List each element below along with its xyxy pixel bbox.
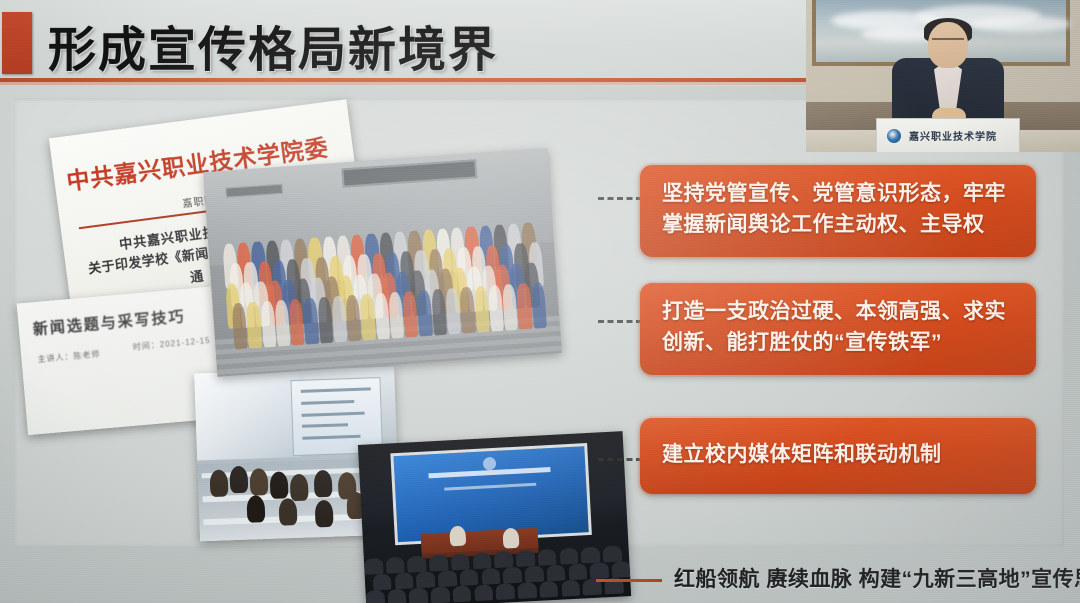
- speaker-glasses-icon: [932, 38, 964, 47]
- school-emblem-icon: [887, 129, 901, 143]
- slide-screenshot: 形成宣传格局新境界 中共嘉兴职业技术学院委 嘉职院党〔2021〕39 号 中共嘉…: [0, 0, 1080, 603]
- training-slide-presenter: 主讲人：陈老师: [37, 349, 101, 365]
- group-photo-crowd: [222, 214, 554, 355]
- callout-text-2: 打造一支政治过硬、本领高强、求实创新、能打胜仗的“宣传铁军”: [662, 297, 1016, 358]
- auditorium-seats: [364, 543, 631, 603]
- podium-nameplate-text: 嘉兴职业技术学院: [909, 128, 997, 143]
- footer-accent-rule: [596, 579, 662, 582]
- building-window: [341, 159, 477, 187]
- auditorium-screen-emblem: [483, 457, 497, 471]
- connector-dash-1: [598, 197, 642, 200]
- slide-content-canvas: 中共嘉兴职业技术学院委 嘉职院党〔2021〕39 号 中共嘉兴职业技术学院委员会…: [14, 98, 1064, 546]
- callout-text-3: 建立校内媒体矩阵和联动机制: [662, 440, 942, 471]
- footer-slogan: 红船领航 赓续血脉 构建“九新三高地”宣传思想大格局: [674, 563, 1080, 593]
- callout-box-2[interactable]: 打造一支政治过硬、本领高强、求实创新、能打胜仗的“宣传铁军”: [640, 283, 1036, 375]
- auditorium-screen-sub-line: [445, 483, 537, 491]
- callout-box-3[interactable]: 建立校内媒体矩阵和联动机制: [640, 418, 1036, 494]
- speaker-video-overlay[interactable]: 嘉兴职业技术学院: [806, 0, 1080, 152]
- connector-dash-3: [598, 458, 642, 461]
- group-photo: [203, 148, 561, 377]
- podium-nameplate: 嘉兴职业技术学院: [876, 118, 1020, 152]
- title-accent-bar: [2, 12, 32, 74]
- page-title: 形成宣传格局新境界: [48, 10, 498, 80]
- training-slide-date: 时间：2021-12-15: [132, 335, 211, 353]
- callout-box-1[interactable]: 坚持党管宣传、党管意识形态，牢牢掌握新闻舆论工作主动权、主导权: [640, 165, 1036, 257]
- callout-text-1: 坚持党管宣传、党管意识形态，牢牢掌握新闻舆论工作主动权、主导权: [662, 179, 1016, 240]
- classroom-light-beam: [194, 370, 301, 461]
- training-slide-title: 新闻选题与采写技巧: [32, 305, 186, 339]
- building-sign: [225, 184, 283, 198]
- auditorium-photo: [358, 431, 631, 603]
- connector-dash-2: [598, 320, 642, 323]
